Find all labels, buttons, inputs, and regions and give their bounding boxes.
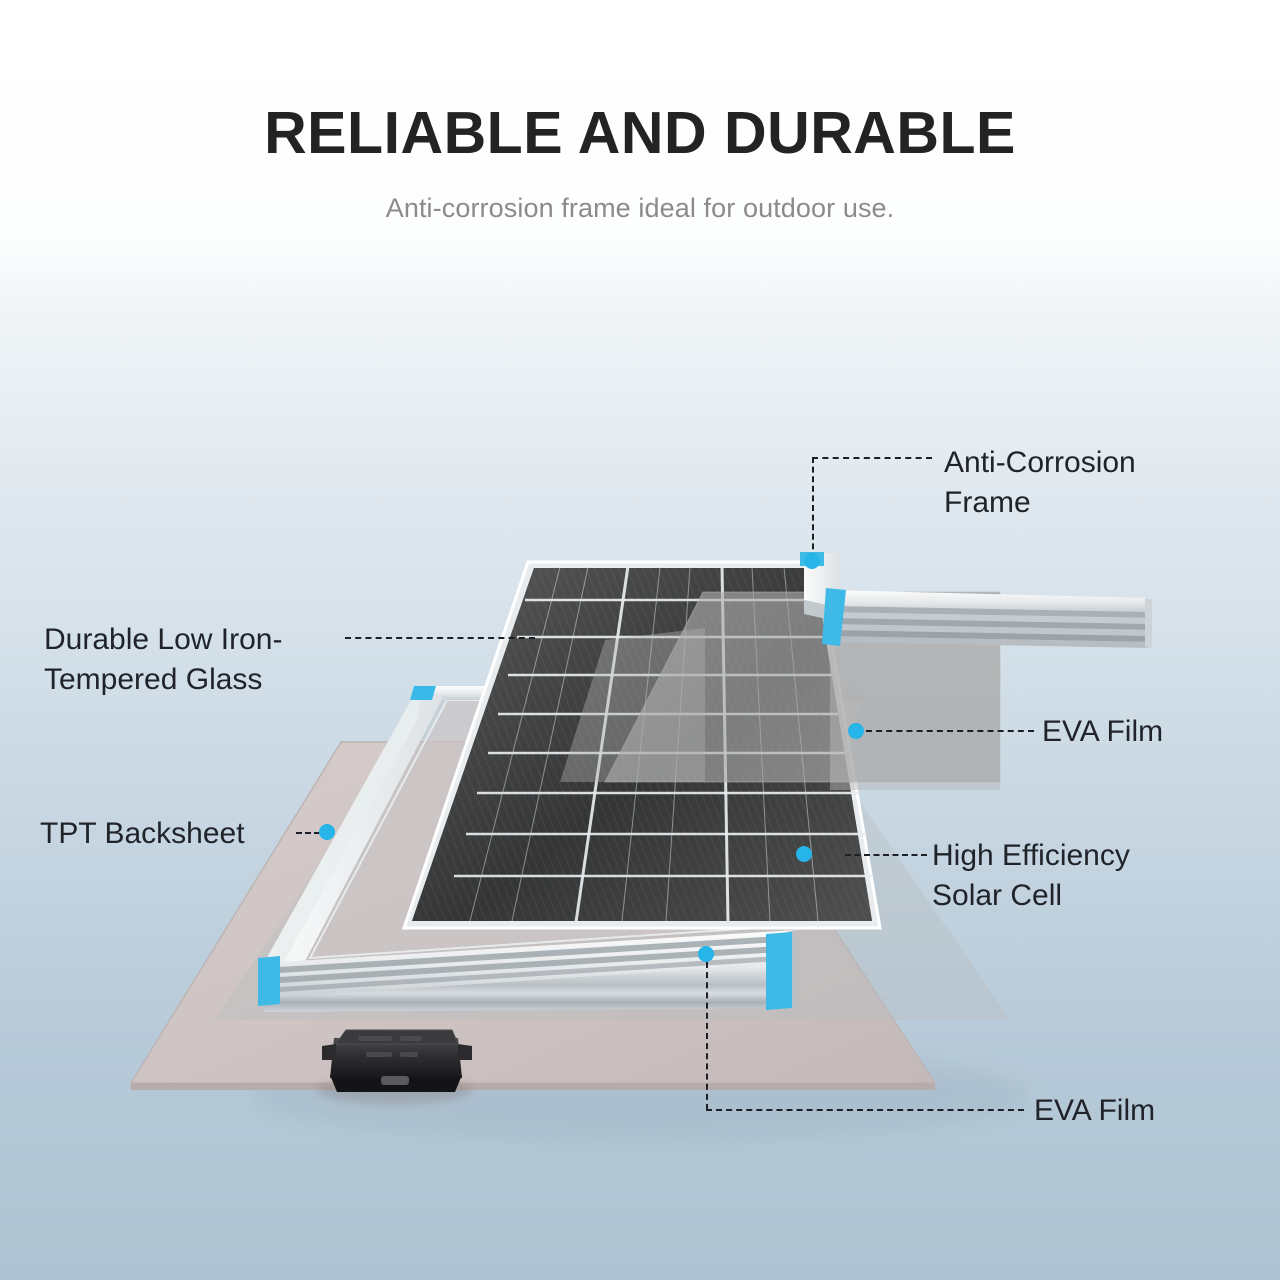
- dot-anti-corrosion-frame: [804, 553, 820, 569]
- leader-anti-corrosion-frame-vertical: [812, 457, 814, 559]
- leader-anti-corrosion-frame-horizontal: [812, 457, 932, 459]
- callout-eva-film-upper: EVA Film: [1042, 712, 1280, 752]
- dot-eva-film-lower: [698, 946, 714, 962]
- callout-layer: Anti-Corrosion Frame Durable Low Iron- T…: [0, 0, 1280, 1280]
- callout-anti-corrosion-frame: Anti-Corrosion Frame: [944, 443, 1244, 523]
- leader-eva-film-lower-horizontal: [706, 1109, 1024, 1111]
- dot-tpt-backsheet: [319, 824, 335, 840]
- dot-high-efficiency-solar-cell: [796, 846, 812, 862]
- leader-eva-film-lower-vertical: [706, 962, 708, 1110]
- callout-tpt-backsheet: TPT Backsheet: [40, 814, 310, 854]
- leader-high-efficiency-solar-cell: [845, 854, 927, 856]
- leader-eva-film-upper: [866, 730, 1034, 732]
- infographic-canvas: RELIABLE AND DURABLE Anti-corrosion fram…: [0, 0, 1280, 1280]
- callout-eva-film-lower: EVA Film: [1034, 1091, 1274, 1131]
- dot-eva-film-upper: [848, 723, 864, 739]
- callout-durable-low-iron-tempered-glass: Durable Low Iron- Tempered Glass: [44, 620, 364, 700]
- leader-tempered-glass: [345, 637, 535, 639]
- callout-high-efficiency-solar-cell: High Efficiency Solar Cell: [932, 836, 1232, 916]
